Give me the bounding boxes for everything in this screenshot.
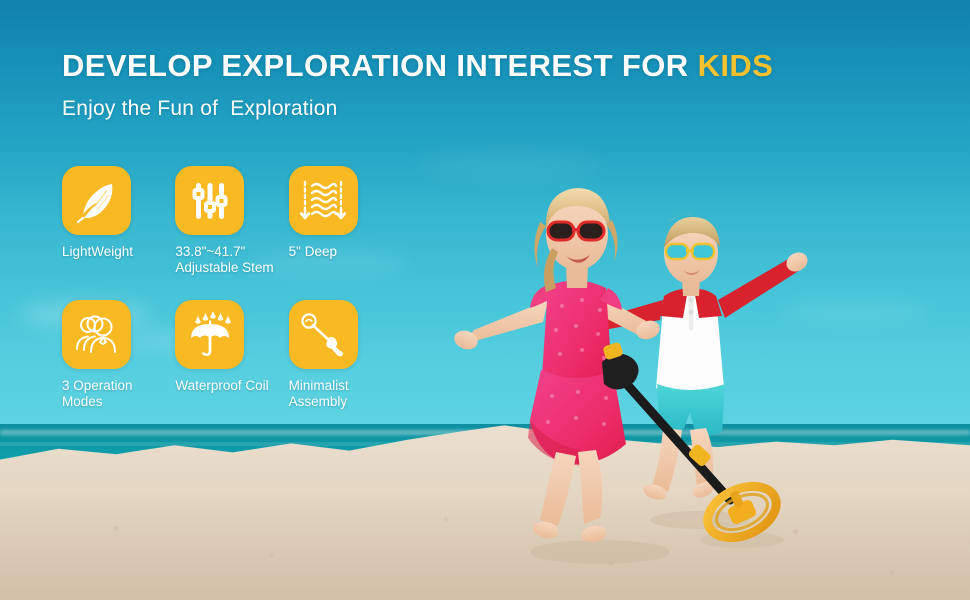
feature-row: 3 Operation Modes (62, 300, 402, 409)
sliders-icon (188, 179, 232, 223)
feature-label: 33.8"~41.7" Adjustable Stem (175, 244, 273, 275)
feature-depth[interactable]: 5" Deep (289, 166, 402, 275)
feature-waterproof-coil[interactable]: Waterproof Coil (175, 300, 288, 409)
feature-label: 3 Operation Modes (62, 378, 133, 409)
feature-adjustable-stem[interactable]: 33.8"~41.7" Adjustable Stem (175, 166, 288, 275)
feature-tile (175, 300, 244, 369)
umbrella-rain-icon (187, 312, 233, 358)
feature-label: Waterproof Coil (175, 378, 268, 394)
feature-label: Minimalist Assembly (289, 378, 349, 409)
depth-waves-icon (300, 179, 346, 223)
feature-label: 5" Deep (289, 244, 337, 260)
feature-grid: LightWeight 3 (62, 166, 402, 409)
headline-accent: KIDS (698, 48, 774, 83)
cloud (420, 150, 600, 180)
headline-main: DEVELOP EXPLORATION INTEREST FOR (62, 48, 698, 83)
feature-label: LightWeight (62, 244, 133, 260)
feature-tile (62, 300, 131, 369)
page-subtitle: Enjoy the Fun of Exploration (62, 97, 337, 121)
feature-tile (289, 166, 358, 235)
cloud (780, 300, 930, 322)
raindrops (195, 312, 231, 324)
feature-minimalist-assembly[interactable]: Minimalist Assembly (289, 300, 402, 409)
product-feature-banner: DEVELOP EXPLORATION INTEREST FOR KIDS En… (0, 0, 970, 600)
feature-operation-modes[interactable]: 3 Operation Modes (62, 300, 175, 409)
feature-row: LightWeight 3 (62, 166, 402, 275)
feature-tile (289, 300, 358, 369)
metal-detector-icon (300, 312, 346, 358)
page-title: DEVELOP EXPLORATION INTEREST FOR KIDS (62, 48, 773, 84)
users-group-icon (73, 313, 121, 357)
feature-tile (175, 166, 244, 235)
feather-icon (74, 178, 120, 224)
feature-lightweight[interactable]: LightWeight (62, 166, 175, 275)
feature-tile (62, 166, 131, 235)
